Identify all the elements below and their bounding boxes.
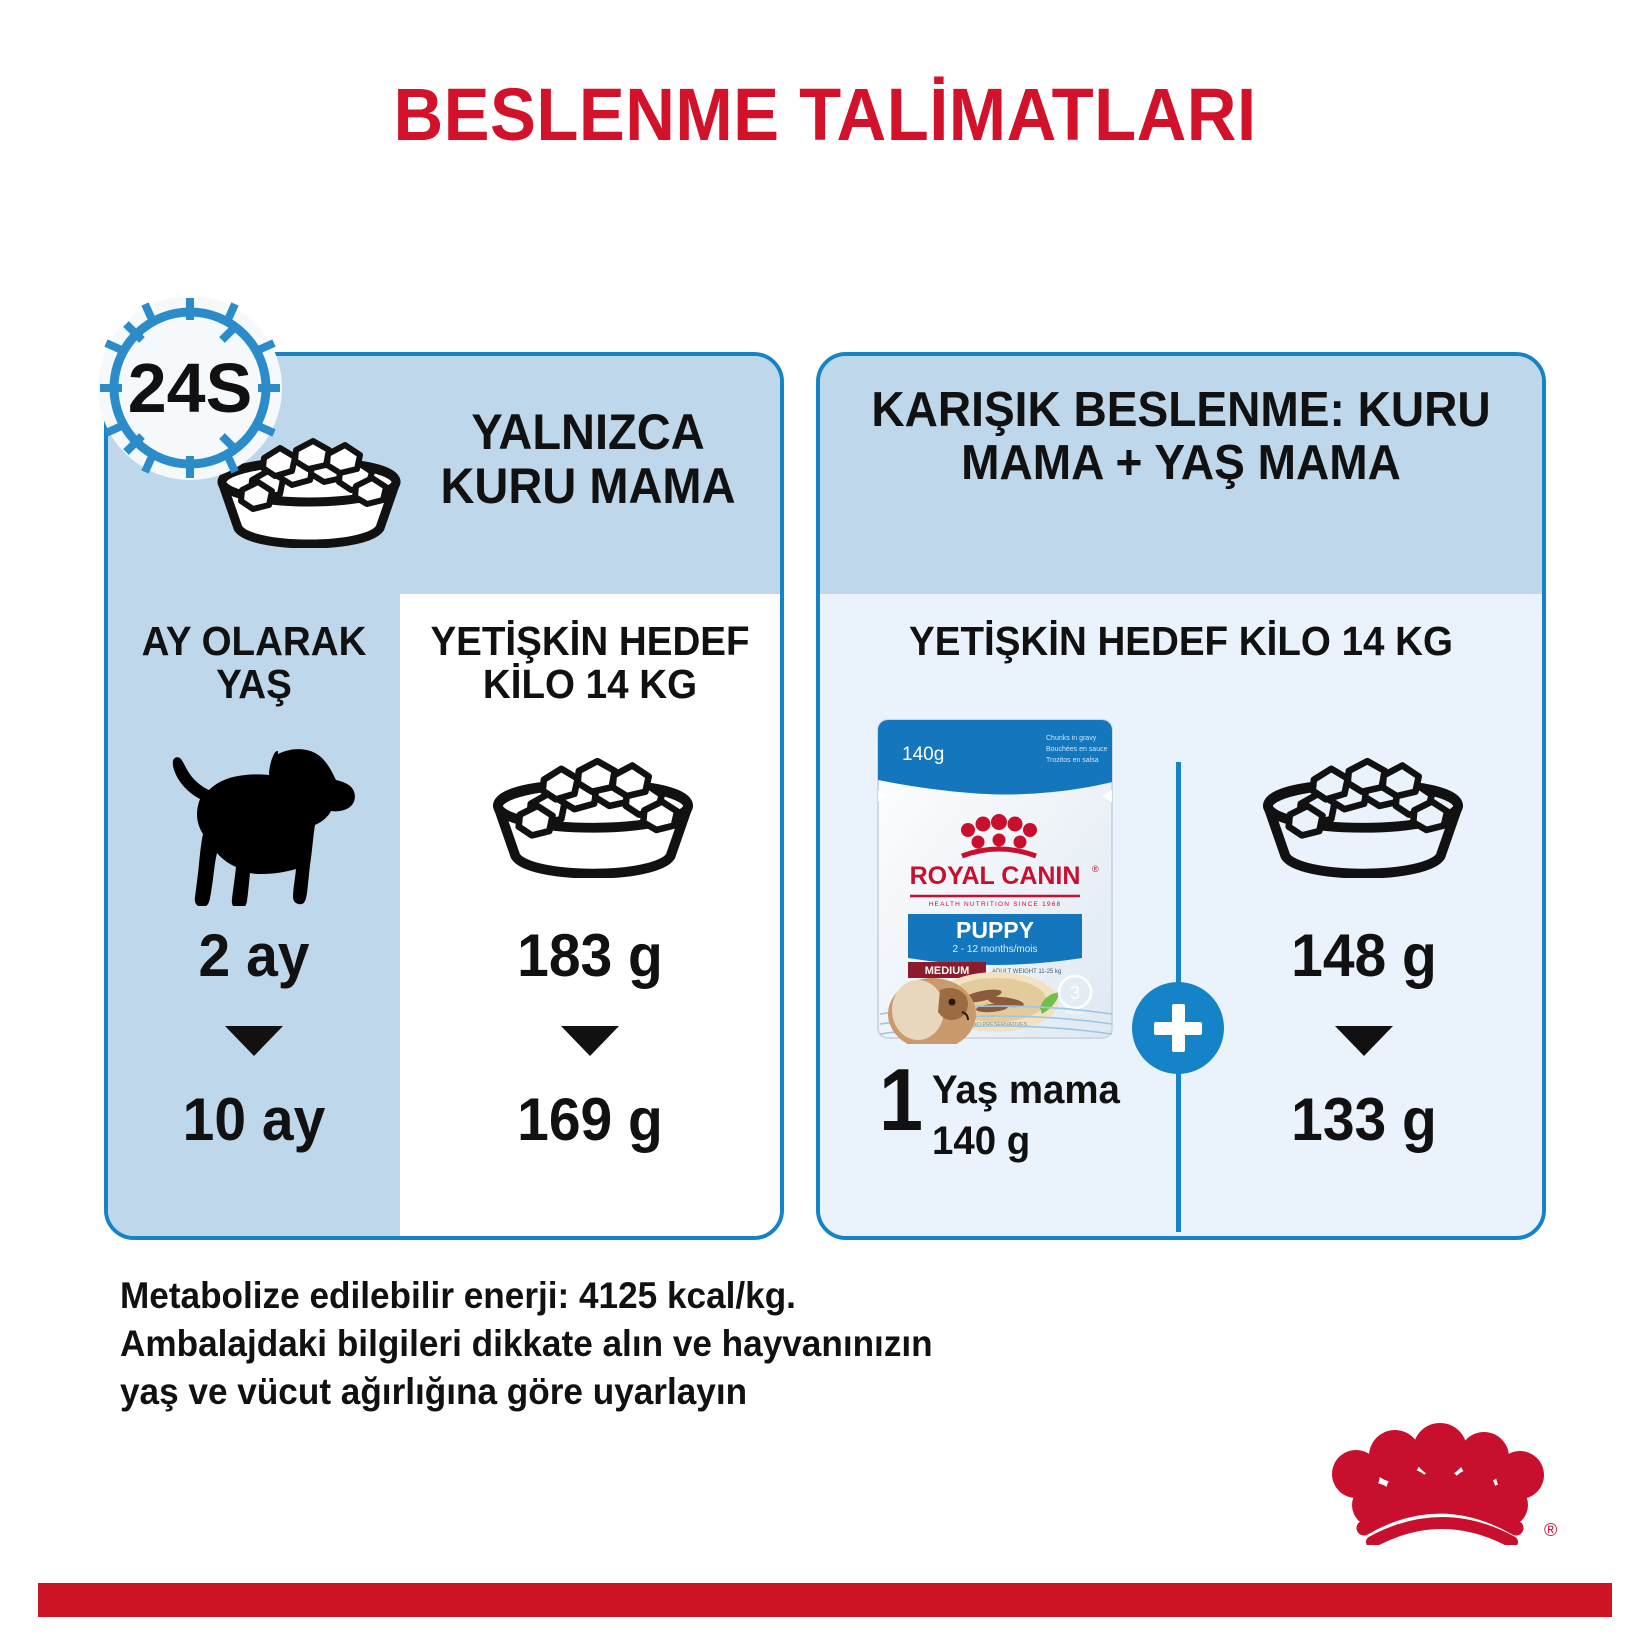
footnote-line-3: yaş ve vücut ağırlığına göre uyarlayın	[120, 1368, 1127, 1416]
mixed-dry-column: 148 g 133 g	[1186, 594, 1542, 1240]
wet-food-pouch-icon: 140g Chunks in gravy Bouchées en sauce T…	[870, 714, 1120, 1044]
svg-text:NO PRESERVATIVES: NO PRESERVATIVES	[973, 1022, 1028, 1028]
page-title: BESLENME TALİMATLARI	[58, 78, 1593, 152]
age-down-triangle-icon	[225, 1026, 283, 1056]
mixed-dry-end-value: 133 g	[1195, 1090, 1533, 1150]
svg-text:HEALTH NUTRITION SINCE 1968: HEALTH NUTRITION SINCE 1968	[929, 901, 1062, 908]
svg-text:Trozitos en salsa: Trozitos en salsa	[1046, 757, 1099, 764]
age-column: AY OLARAK YAŞ 2 ay 10 ay	[108, 594, 400, 1240]
svg-text:®: ®	[1092, 864, 1099, 874]
wet-food-label-line1: Yaş mama	[932, 1062, 1120, 1113]
dry-amount-end-value: 169 g	[410, 1090, 771, 1150]
dry-panel-header-title: YALNIZCA KURU MAMA	[409, 406, 766, 513]
pouch-age: 2 - 12 months/mois	[952, 944, 1037, 955]
dry-panel-body: AY OLARAK YAŞ 2 ay 10 ay YETİŞKİN HEDEF …	[108, 594, 780, 1240]
bottom-red-bar	[38, 1583, 1612, 1617]
mixed-panel-body: YETİŞKİN HEDEF KİLO 14 KG 140g	[820, 594, 1542, 1240]
mixed-panel-header-title: KARIŞIK BESLENME: KURU MAMA + YAŞ MAMA	[842, 384, 1521, 490]
wet-food-count: 1	[879, 1062, 923, 1138]
svg-text:Chunks in gravy: Chunks in gravy	[1046, 735, 1097, 742]
pouch-brand: ROYAL CANIN	[910, 862, 1081, 890]
mixed-panel-header: KARIŞIK BESLENME: KURU MAMA + YAŞ MAMA	[820, 356, 1542, 594]
footnote-line-2: Ambalajdaki bilgileri dikkate alın ve ha…	[120, 1320, 1127, 1368]
wet-food-count-line: 1 Yaş mama 140 g	[838, 1062, 1168, 1164]
svg-text:Bouchées en sauce: Bouchées en sauce	[1046, 746, 1108, 753]
wet-food-label-line2: 140 g	[932, 1113, 1120, 1164]
dry-amount-start-value: 183 g	[410, 926, 771, 986]
age-end-value: 10 ay	[115, 1090, 392, 1150]
pouch-weight: 140g	[902, 744, 944, 765]
pouch-count-badge: 3	[1070, 983, 1080, 1003]
pouch-product: PUPPY	[956, 917, 1034, 943]
footnote-line-1: Metabolize edilebilir enerji: 4125 kcal/…	[120, 1272, 1127, 1320]
dry-food-bowl-icon	[478, 736, 708, 878]
mixed-dry-start-value: 148 g	[1195, 926, 1533, 986]
clock-24h-badge: 24S	[92, 290, 288, 486]
mixed-feeding-panel: KARIŞIK BESLENME: KURU MAMA + YAŞ MAMA Y…	[816, 352, 1546, 1240]
royal-canin-crown-logo: ®	[1268, 1370, 1568, 1545]
puppy-silhouette-icon	[144, 740, 370, 906]
trademark-symbol: ®	[1544, 1520, 1557, 1540]
clock-badge-label: 24S	[128, 349, 253, 427]
mixed-dry-down-triangle-icon	[1335, 1026, 1393, 1056]
dry-amount-down-triangle-icon	[561, 1026, 619, 1056]
infographic-page: BESLENME TALİMATLARI	[0, 0, 1650, 1650]
dry-food-bowl-icon	[1248, 736, 1478, 878]
footnote: Metabolize edilebilir enerji: 4125 kcal/…	[120, 1272, 1127, 1416]
dry-amount-column: YETİŞKİN HEDEF KİLO 14 KG	[400, 594, 780, 1240]
age-column-header: AY OLARAK YAŞ	[117, 620, 391, 707]
dry-amount-column-header: YETİŞKİN HEDEF KİLO 14 KG	[411, 620, 768, 707]
age-start-value: 2 ay	[115, 926, 392, 986]
pouch-size: MEDIUM	[925, 965, 970, 977]
